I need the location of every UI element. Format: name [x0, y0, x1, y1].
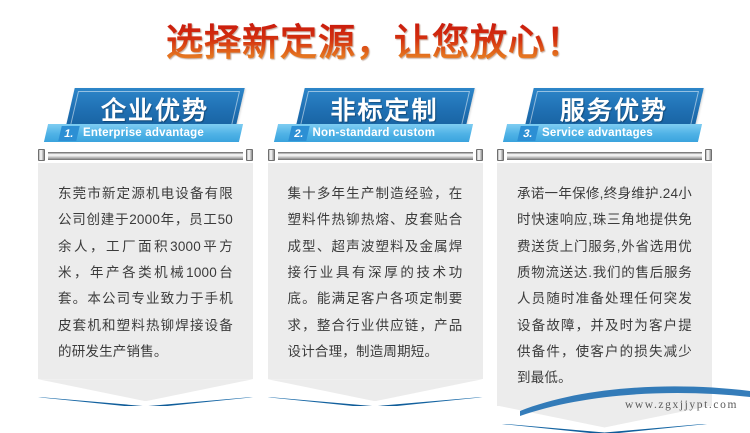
banner-sub-content: 1. Enterprise advantage	[46, 124, 241, 142]
panel-banner: 非标定制 2. Non-standard custom	[268, 88, 483, 146]
panel-heading: 服务优势	[529, 88, 699, 129]
rod-cap-right-icon	[476, 149, 483, 161]
panel-heading: 非标定制	[300, 88, 470, 129]
chevron-fill	[268, 379, 483, 401]
rod-bar	[507, 152, 702, 160]
panel-subheading: Service advantages	[542, 127, 653, 139]
banner-sub-content: 2. Non-standard custom	[276, 124, 471, 142]
rod-cap-right-icon	[246, 149, 253, 161]
panel-banner: 企业优势 1. Enterprise advantage	[38, 88, 253, 146]
panel-chevron-tail	[38, 379, 253, 405]
panel-body-text: 集十多年生产制造经验，在塑料件热铆热熔、皮套贴合成型、超声波塑料及金属焊接行业具…	[288, 181, 463, 365]
site-watermark: www.zgxjjypt.com	[625, 399, 738, 411]
rod-divider	[497, 149, 712, 161]
panel-chevron-tail	[268, 379, 483, 405]
panel-banner: 服务优势 3. Service advantages	[497, 88, 712, 146]
panel-body-text: 承诺一年保修,终身维护.24小时快速响应,珠三角地提供免费送货上门服务,外省选用…	[517, 181, 692, 392]
page-title: 选择新定源，让您放心！	[0, 22, 750, 65]
panel-content-box: 集十多年生产制造经验，在塑料件热铆热熔、皮套贴合成型、超声波塑料及金属焊接行业具…	[268, 163, 483, 379]
panel-number: 1.	[58, 126, 79, 141]
rod-cap-left-icon	[38, 149, 45, 161]
panel-subheading: Non-standard custom	[313, 127, 436, 139]
rod-cap-left-icon	[268, 149, 275, 161]
panel-content-box: 东莞市新定源机电设备有限公司创建于2000年，员工50余人，工厂面积3000平方…	[38, 163, 253, 379]
banner-sub-content: 3. Service advantages	[505, 124, 700, 142]
rod-divider	[38, 149, 253, 161]
panel-heading: 企业优势	[70, 88, 240, 129]
chevron-fill	[38, 379, 253, 401]
panel-body-text: 东莞市新定源机电设备有限公司创建于2000年，员工50余人，工厂面积3000平方…	[58, 181, 233, 365]
rod-bar	[48, 152, 243, 160]
rod-cap-right-icon	[705, 149, 712, 161]
advantage-panel-service: 服务优势 3. Service advantages 承诺一年保修,终身维护.2…	[497, 88, 712, 408]
panel-content-box: 承诺一年保修,终身维护.24小时快速响应,珠三角地提供免费送货上门服务,外省选用…	[497, 163, 712, 406]
rod-divider	[268, 149, 483, 161]
advantage-columns: 企业优势 1. Enterprise advantage 东莞市新定源机电设备有…	[0, 88, 750, 408]
rod-cap-left-icon	[497, 149, 504, 161]
panel-subheading: Enterprise advantage	[83, 127, 204, 139]
advantage-panel-custom: 非标定制 2. Non-standard custom 集十多年生产制造经验，在…	[268, 88, 483, 408]
advantage-panel-enterprise: 企业优势 1. Enterprise advantage 东莞市新定源机电设备有…	[38, 88, 253, 408]
rod-bar	[278, 152, 473, 160]
panel-number: 2.	[288, 126, 309, 141]
panel-number: 3.	[517, 126, 538, 141]
